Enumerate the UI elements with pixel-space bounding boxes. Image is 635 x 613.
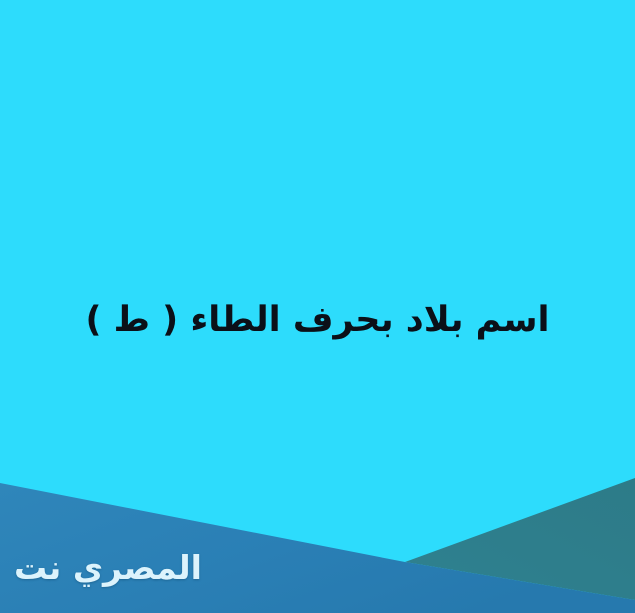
image-canvas: اسم بلاد بحرف الطاء ( ط ) المصري نت [0,0,635,613]
decorative-bottom-shapes [0,0,635,613]
site-watermark: المصري نت [14,538,202,596]
